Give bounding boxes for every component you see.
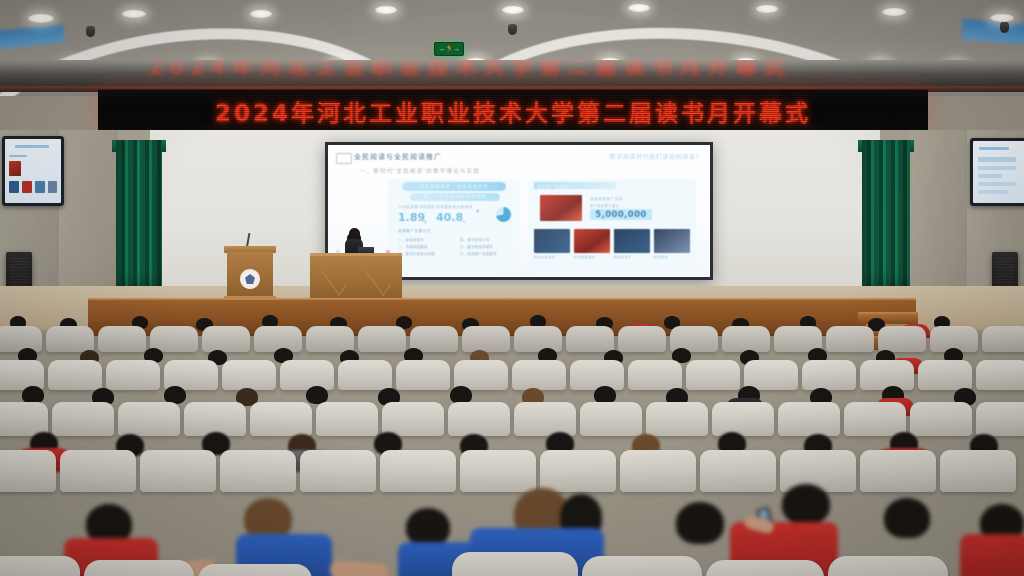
- ceiling-downlight: [756, 5, 778, 13]
- seat: [118, 402, 180, 436]
- seat: [358, 326, 406, 352]
- slide-right-panel: [528, 179, 696, 267]
- seat: [60, 450, 136, 492]
- seat: [184, 402, 246, 436]
- seat: [712, 402, 774, 436]
- exit-sign: ←🏃→: [434, 42, 464, 56]
- exit-sign-label: ←🏃→: [439, 46, 459, 53]
- attendee-head: [782, 484, 830, 524]
- ceiling-downlight: [122, 10, 146, 18]
- seat: [396, 360, 450, 390]
- seat: [700, 450, 776, 492]
- slide-title: 全民阅读与全民阅读推广: [354, 152, 442, 162]
- security-camera-icon: [86, 26, 95, 37]
- slide-stat-2-value: 40.8: [436, 211, 463, 224]
- seat: [0, 326, 42, 352]
- ceiling-downlight: [28, 14, 54, 23]
- slide-bullet: 二、书香校园建设: [398, 244, 428, 249]
- seat: [512, 360, 566, 390]
- slide-thumb: [534, 229, 570, 253]
- slide-case-caption-2: 参与读者累计超过: [590, 203, 620, 208]
- slide-feature-poster: [540, 195, 582, 221]
- seat: [48, 360, 102, 390]
- seat: [802, 360, 856, 390]
- seat: [778, 402, 840, 436]
- slide-bullet: 四、数字阅读平台: [460, 237, 490, 242]
- ceiling-downlight: [250, 10, 272, 18]
- seat-foreground: [452, 552, 578, 576]
- seat: [222, 360, 276, 390]
- slide-list-title: 阅读推广主要方式: [398, 229, 431, 234]
- slide-donut-chart: [496, 207, 511, 222]
- slide-bullet: 五、图书馆阅读服务: [460, 244, 493, 249]
- podium-body: [227, 252, 273, 302]
- desk-panel-detail: [366, 261, 390, 296]
- seat: [566, 326, 614, 352]
- right-monitor-screen: [973, 141, 1024, 203]
- attendee-arm: [329, 560, 388, 576]
- seat: [202, 326, 250, 352]
- seat: [618, 326, 666, 352]
- slide-chart-caption: ▦: [476, 209, 480, 213]
- seat: [0, 450, 56, 492]
- ceiling-downlight: [375, 6, 397, 14]
- seat-foreground: [0, 556, 80, 576]
- seat: [722, 326, 770, 352]
- seat: [106, 360, 160, 390]
- university-crest-icon: [240, 269, 260, 289]
- slide-thumb: [614, 229, 650, 253]
- seat: [52, 402, 114, 436]
- slide-thumb-caption: 阅读分享活动: [534, 255, 555, 259]
- slide-stat-2-unit: %: [462, 219, 466, 224]
- seat-foreground: [198, 564, 312, 576]
- seat-foreground: [706, 560, 824, 576]
- audience-seating: [0, 312, 1024, 576]
- seat: [570, 360, 624, 390]
- seat-foreground: [828, 556, 948, 576]
- seat-foreground: [582, 556, 702, 576]
- stage-curtain-right: [862, 140, 910, 300]
- seat: [316, 402, 378, 436]
- led-banner: 2024年河北工业职业技术大学第二届读书月开幕式: [98, 89, 928, 133]
- slide-bullet: 一、全民阅读月: [398, 237, 424, 242]
- seat: [910, 402, 972, 436]
- slide-pill-1: 全民阅读调查 · 国民阅读状况: [402, 182, 506, 191]
- ceiling-downlight: [502, 6, 524, 14]
- seat: [382, 402, 444, 436]
- seat: [646, 402, 708, 436]
- security-camera-icon: [508, 24, 517, 35]
- seat: [860, 360, 914, 390]
- seat: [580, 402, 642, 436]
- right-wall-monitor: [970, 138, 1024, 206]
- slide-thumb: [574, 229, 610, 253]
- seat: [0, 360, 44, 390]
- seat: [300, 450, 376, 492]
- slide-stat-2-label: 成年国民综合阅读率: [436, 205, 473, 210]
- led-banner-text: 2024年河北工业职业技术大学第二届读书月开幕式: [215, 94, 811, 128]
- slide-bullet: 三、读书分享会与讲座: [398, 251, 435, 256]
- slide-stat-1-unit: 本: [423, 219, 428, 225]
- seat: [918, 360, 972, 390]
- podium: [227, 246, 273, 302]
- seat: [976, 402, 1024, 436]
- slide-right-header: 阅读推广案例展示: [537, 184, 573, 190]
- slide-subtitle: 一、新时代“全民阅读”的教学理论与实践: [360, 167, 480, 175]
- slide-thumb: [654, 229, 690, 253]
- seat: [514, 402, 576, 436]
- ceiling-downlight: [990, 14, 1014, 22]
- slide-stat-1-label: 人均纸质图书阅读量: [398, 205, 435, 210]
- slide-logo-icon: [336, 153, 352, 164]
- seat: [0, 402, 48, 436]
- desk-panel-detail: [322, 261, 346, 296]
- seat: [976, 360, 1024, 390]
- presenter-hair-top: [349, 228, 360, 239]
- left-wall-monitor: [2, 136, 64, 206]
- slide-thumb-caption: 红色经典诵读: [574, 255, 595, 259]
- seat: [620, 450, 696, 492]
- attendee-head: [406, 508, 450, 546]
- ceiling-downlight: [882, 8, 906, 16]
- seat: [686, 360, 740, 390]
- left-monitor-screen: [5, 139, 61, 203]
- seat: [982, 326, 1024, 352]
- seat: [280, 360, 334, 390]
- seat: [306, 326, 354, 352]
- seat: [220, 450, 296, 492]
- seat: [940, 450, 1016, 492]
- seat: [628, 360, 682, 390]
- slide-question: 数字阅读时代我们该如何阅读？: [610, 152, 702, 161]
- seat: [460, 450, 536, 492]
- seat: [448, 402, 510, 436]
- attendee-head: [676, 502, 724, 544]
- slide-case-caption-1: 全民阅读推广活动: [590, 197, 623, 202]
- seat: [380, 450, 456, 492]
- seat: [540, 450, 616, 492]
- seat: [826, 326, 874, 352]
- seat: [462, 326, 510, 352]
- slide-thumb-caption: 名家讲坛: [654, 255, 668, 259]
- seat: [98, 326, 146, 352]
- slide-bullet: 六、阅读推广志愿服务: [460, 251, 497, 256]
- seat: [338, 360, 392, 390]
- slide-pill-2: 第二十次全国国民阅读调查: [410, 193, 500, 201]
- slide-thumb-caption: 校园读书节: [614, 255, 632, 259]
- seat: [844, 402, 906, 436]
- seat: [250, 402, 312, 436]
- attendee-head: [884, 498, 930, 538]
- auditorium-photo: ←🏃→ 2024年河北工业职业技术大学第二届读书月开幕式 2024年河北工业职业…: [0, 0, 1024, 576]
- seat: [514, 326, 562, 352]
- seat-foreground: [84, 560, 194, 576]
- security-camera-icon: [1000, 22, 1009, 33]
- seat: [46, 326, 94, 352]
- seat: [878, 326, 926, 352]
- seat: [140, 450, 216, 492]
- seat: [860, 450, 936, 492]
- slide-stat-1-value: 1.89: [398, 211, 425, 224]
- attendee-torso: [960, 534, 1024, 576]
- ceiling-downlight: [628, 4, 650, 12]
- stage-curtain-left: [116, 140, 162, 300]
- slide-highlight-number: 5,000,000: [590, 209, 652, 220]
